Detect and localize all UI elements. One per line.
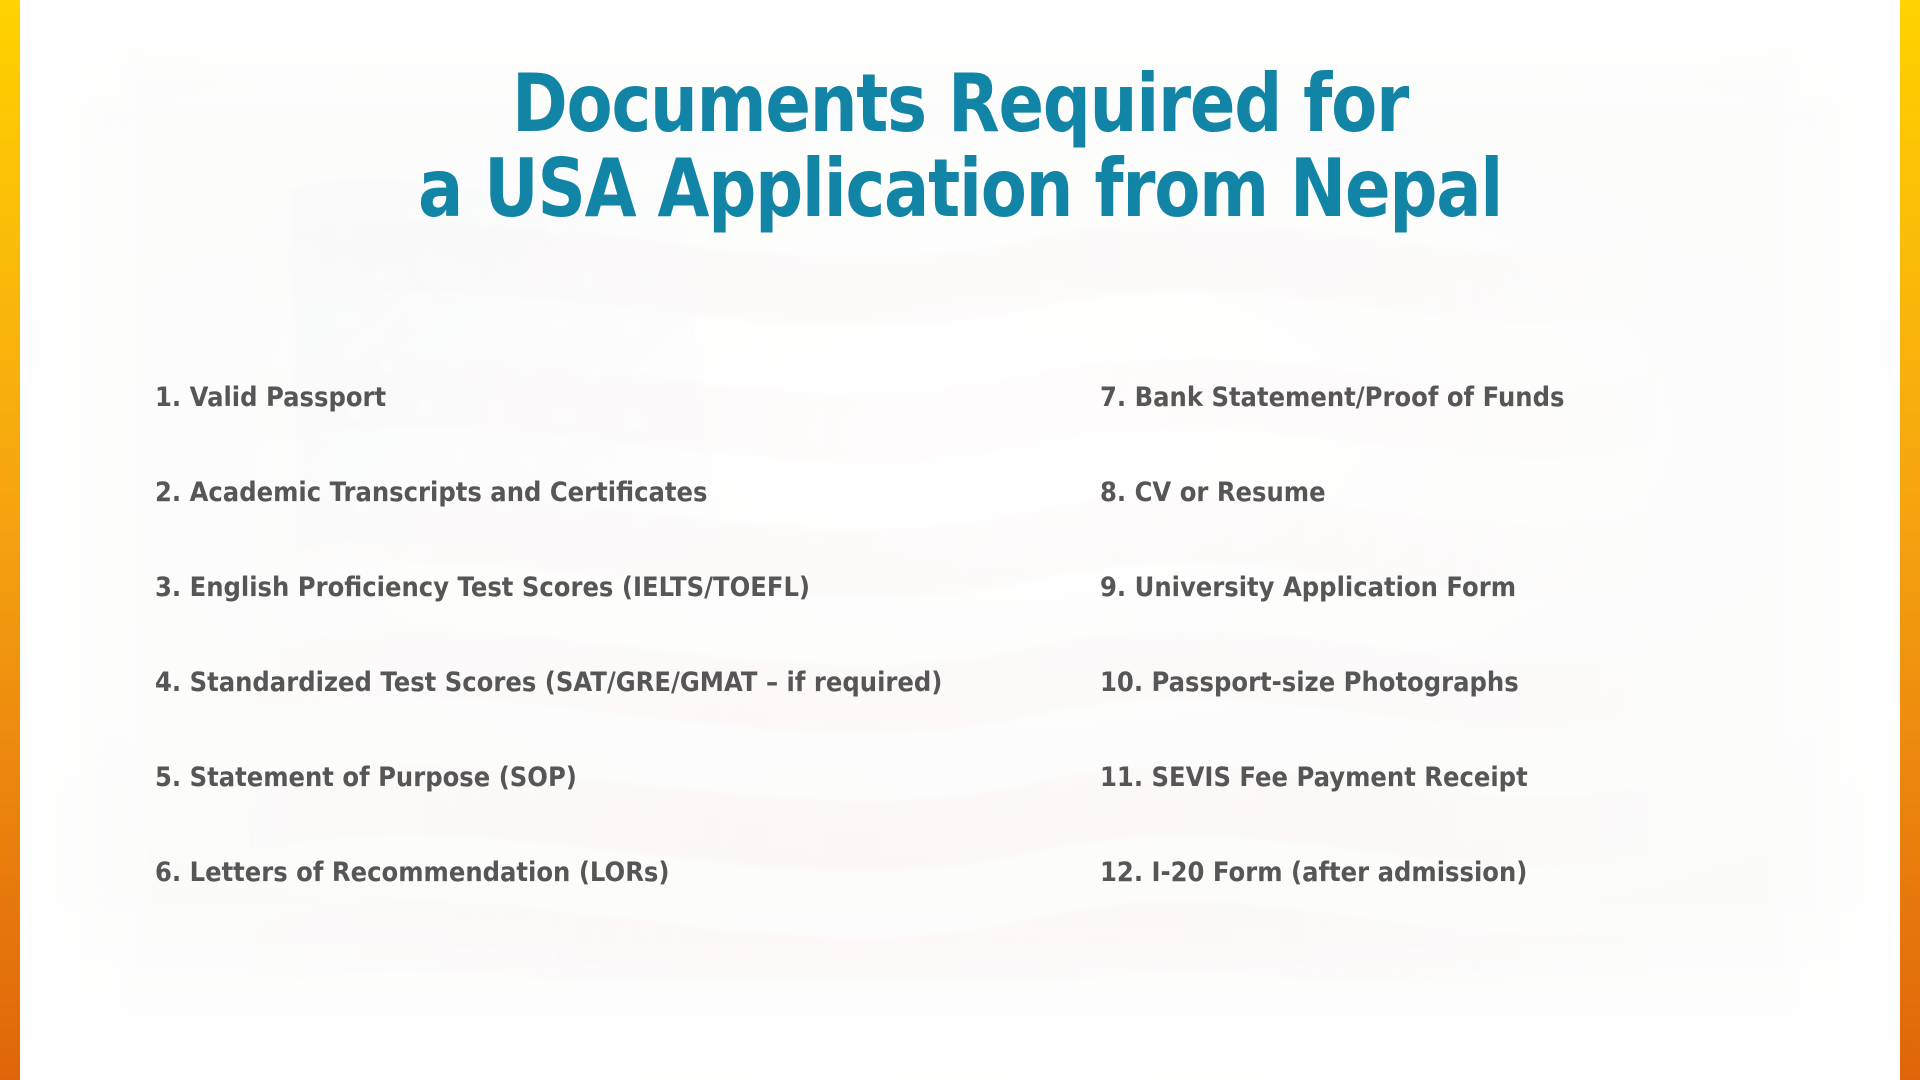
- list-item: 4. Standardized Test Scores (SAT/GRE/GMA…: [155, 667, 961, 762]
- right-accent-stripe: [1900, 0, 1920, 1080]
- documents-column-right: 7. Bank Statement/Proof of Funds 8. CV o…: [1050, 382, 1920, 952]
- list-item: 5. Statement of Purpose (SOP): [155, 762, 961, 857]
- page-title-line-2: a USA Application from Nepal: [204, 147, 1716, 232]
- list-item: 6. Letters of Recommendation (LORs): [155, 857, 961, 952]
- page-title: Documents Required for a USA Application…: [0, 62, 1920, 232]
- documents-column-left: 1. Valid Passport 2. Academic Transcript…: [0, 382, 1050, 952]
- list-item: 9. University Application Form: [1100, 572, 1838, 667]
- list-item: 3. English Proficiency Test Scores (IELT…: [155, 572, 961, 667]
- list-item: 1. Valid Passport: [155, 382, 961, 477]
- list-item: 11. SEVIS Fee Payment Receipt: [1100, 762, 1838, 857]
- left-accent-stripe: [0, 0, 20, 1080]
- list-item: 10. Passport-size Photographs: [1100, 667, 1838, 762]
- list-item: 8. CV or Resume: [1100, 477, 1838, 572]
- list-item: 2. Academic Transcripts and Certificates: [155, 477, 961, 572]
- page-title-line-1: Documents Required for: [204, 62, 1716, 147]
- slide-canvas: Documents Required for a USA Application…: [0, 0, 1920, 1080]
- list-item: 12. I-20 Form (after admission): [1100, 857, 1838, 952]
- list-item: 7. Bank Statement/Proof of Funds: [1100, 382, 1838, 477]
- documents-list: 1. Valid Passport 2. Academic Transcript…: [0, 382, 1920, 952]
